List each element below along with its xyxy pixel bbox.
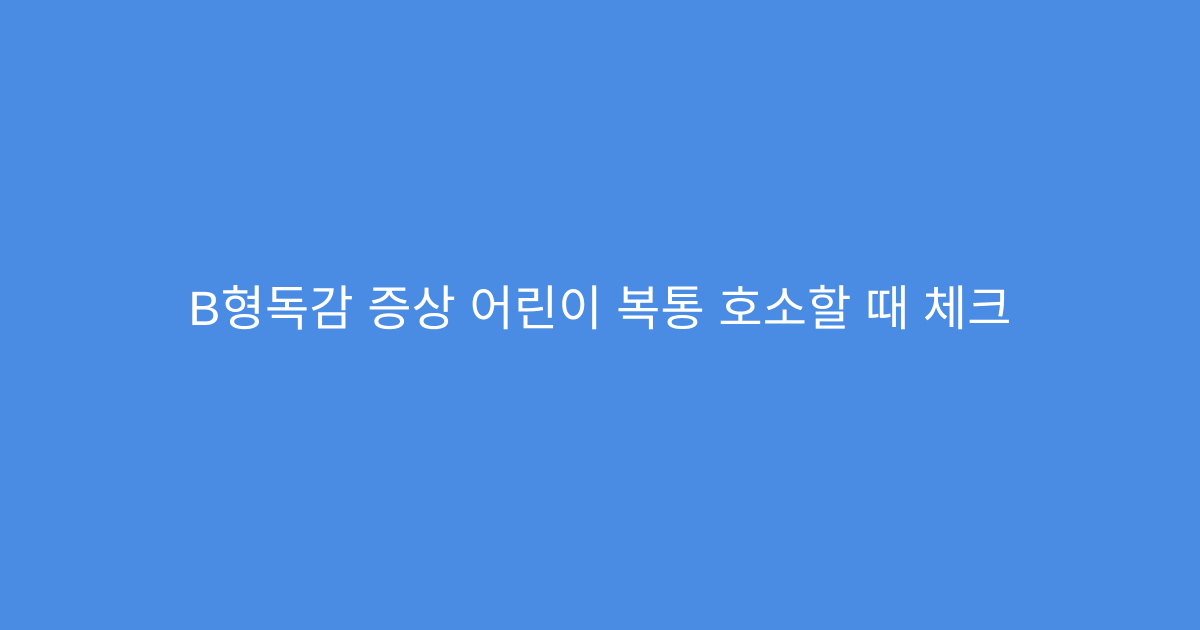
page-title: B형독감 증상 어린이 복통 호소할 때 체크 <box>60 278 1140 342</box>
thumbnail-card: B형독감 증상 어린이 복통 호소할 때 체크 <box>0 0 1200 630</box>
